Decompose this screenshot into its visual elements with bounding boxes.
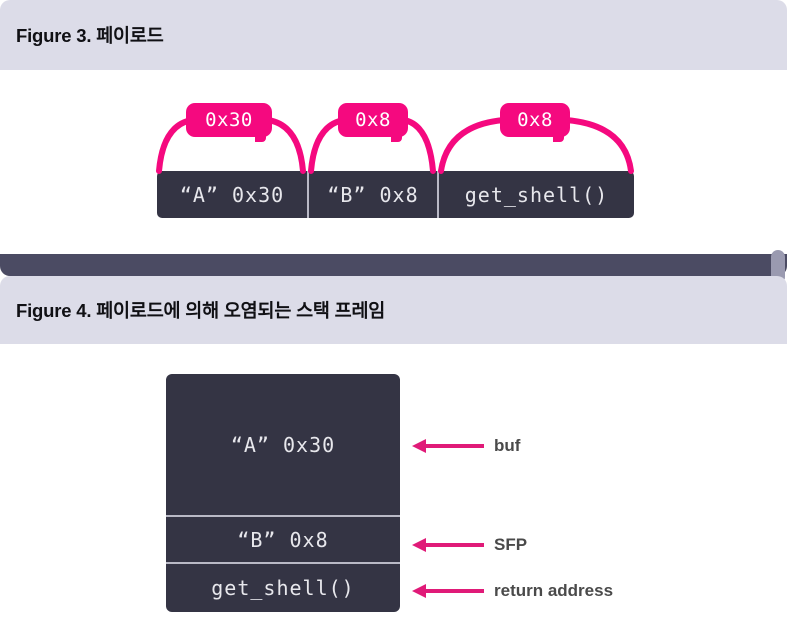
figure-3-title: Figure 3. 페이로드: [16, 22, 164, 48]
annotation-buf: buf: [412, 435, 520, 457]
arrow-left-icon: [412, 435, 484, 457]
arrow-left-icon: [412, 534, 484, 556]
payload-span-arcs: [0, 70, 787, 248]
figure-3-header: Figure 3. 페이로드: [0, 0, 787, 70]
arrow-left-icon: [412, 580, 484, 602]
stack-cell-sfp: “B” 0x8: [166, 515, 400, 562]
stack-cell-buf: “A” 0x30: [166, 374, 400, 515]
annotation-buf-label: buf: [494, 436, 520, 456]
annotation-return-address-label: return address: [494, 581, 613, 601]
payload-size-badge-a: 0x30: [186, 103, 272, 137]
figure-4-header: Figure 4. 페이로드에 의해 오염되는 스택 프레임: [0, 276, 787, 344]
figure-separator-band: [0, 254, 787, 276]
stack-frame-diagram: “A” 0x30 “B” 0x8 get_shell() buf SFP ret…: [0, 344, 787, 642]
stack-cell-return-address: get_shell(): [166, 562, 400, 612]
payload-diagram: 0x30 0x8 0x8 “A” 0x30 “B” 0x8 get_shell(…: [0, 70, 787, 248]
stack-frame-box: “A” 0x30 “B” 0x8 get_shell(): [166, 374, 400, 612]
annotation-return-address: return address: [412, 580, 613, 602]
payload-size-badge-b: 0x8: [338, 103, 408, 137]
annotation-sfp-label: SFP: [494, 535, 527, 555]
figure-3-section: Figure 3. 페이로드 0x30 0x8 0x8 “A” 0x30 “B”…: [0, 0, 787, 248]
figure-4-title: Figure 4. 페이로드에 의해 오염되는 스택 프레임: [16, 297, 385, 323]
payload-size-badge-ret: 0x8: [500, 103, 570, 137]
annotation-sfp: SFP: [412, 534, 527, 556]
